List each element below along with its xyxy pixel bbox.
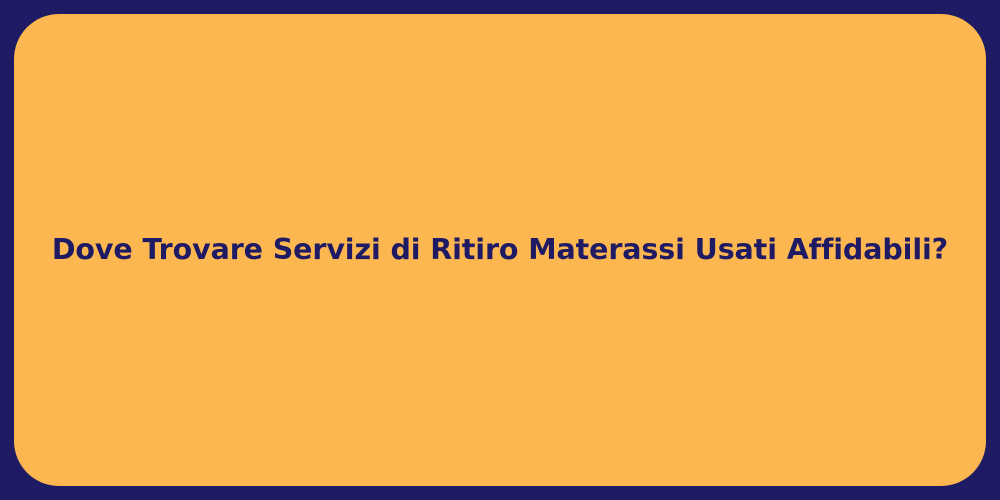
card-frame: Dove Trovare Servizi di Ritiro Materassi…: [0, 0, 1000, 500]
page-title: Dove Trovare Servizi di Ritiro Materassi…: [52, 232, 948, 268]
card-panel: Dove Trovare Servizi di Ritiro Materassi…: [14, 14, 986, 486]
